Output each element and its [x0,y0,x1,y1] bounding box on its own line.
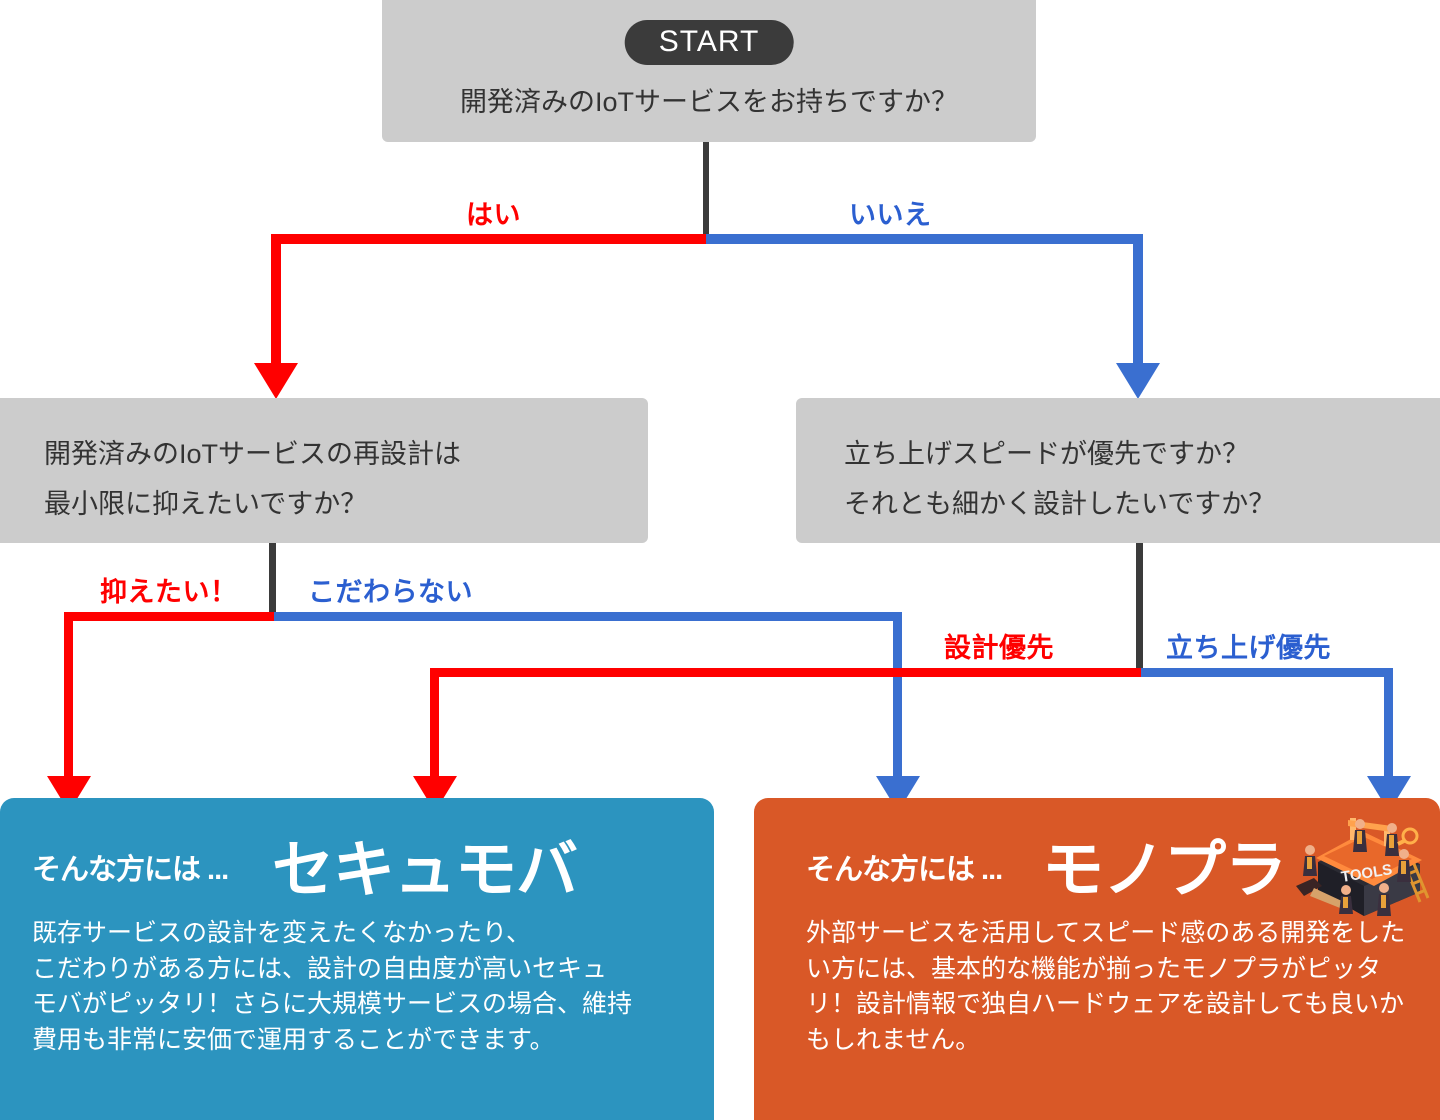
connector-no-vertical [1133,234,1143,366]
secumoba-prefix-text: そんな方には ... [32,846,228,888]
connector-nopref-horizontal [274,612,902,621]
connector-start-stem [703,142,709,240]
connector-nopref-vertical [893,612,902,779]
start-badge: START [625,20,794,65]
right-decision-box: 立ち上げスピードが優先ですか？ それとも細かく設計したいですか？ [796,398,1440,543]
toolbox-illustration: TOOLS [1288,810,1440,918]
arrow-no-to-right-question [1116,363,1160,399]
connector-design-vertical [430,668,439,779]
right-question-line-2: それとも細かく設計したいですか？ [844,482,1275,521]
connector-no-horizontal [706,234,1143,244]
start-question-text: 開発済みのIoTサービスをお持ちですか？ [382,80,1036,119]
connector-left-stem [269,543,276,616]
connector-yes-vertical [271,234,281,366]
flowchart-canvas: START 開発済みのIoTサービスをお持ちですか？ はい いいえ 開発済みのI… [0,0,1440,1120]
edge-label-no-preference: こだわらない [308,570,473,609]
connector-yes-horizontal [271,234,707,244]
left-question-line-2: 最小限に抑えたいですか？ [44,482,367,521]
edge-label-suppress: 抑えたい！ [100,570,238,609]
connector-suppress-horizontal [64,612,274,621]
connector-suppress-vertical [64,612,73,779]
edge-label-design-priority: 設計優先 [944,626,1054,665]
secumoba-card-header: そんな方には ... セキュモバ [0,798,714,910]
monopura-title-text: モノプラ [1042,840,1286,902]
edge-label-yes: はい [466,193,521,232]
monopura-description-text: 外部サービスを活用してスピード感のある開発をした い方には、基本的な機能が揃った… [806,916,1426,1058]
secumoba-title-text: セキュモバ [272,840,577,902]
result-card-secumoba[interactable]: そんな方には ... セキュモバ 既存サービスの設計を変えたくなかったり、 こだ… [0,798,714,1120]
edge-label-no: いいえ [849,193,932,232]
connector-launch-horizontal [1141,668,1393,677]
connector-launch-vertical [1384,668,1393,779]
left-decision-box: 開発済みのIoTサービスの再設計は 最小限に抑えたいですか？ [0,398,648,543]
start-decision-box: START 開発済みのIoTサービスをお持ちですか？ [382,0,1036,142]
secumoba-description-text: 既存サービスの設計を変えたくなかったり、 こだわりがある方には、設計の自由度が高… [32,916,702,1058]
arrow-yes-to-left-question [254,363,298,399]
right-question-line-1: 立ち上げスピードが優先ですか？ [844,432,1249,471]
left-question-line-1: 開発済みのIoTサービスの再設計は [44,432,461,471]
connector-design-horizontal [430,668,1141,677]
connector-right-stem [1136,543,1143,668]
monopura-prefix-text: そんな方には ... [806,846,1002,888]
edge-label-launch-priority: 立ち上げ優先 [1166,626,1331,665]
